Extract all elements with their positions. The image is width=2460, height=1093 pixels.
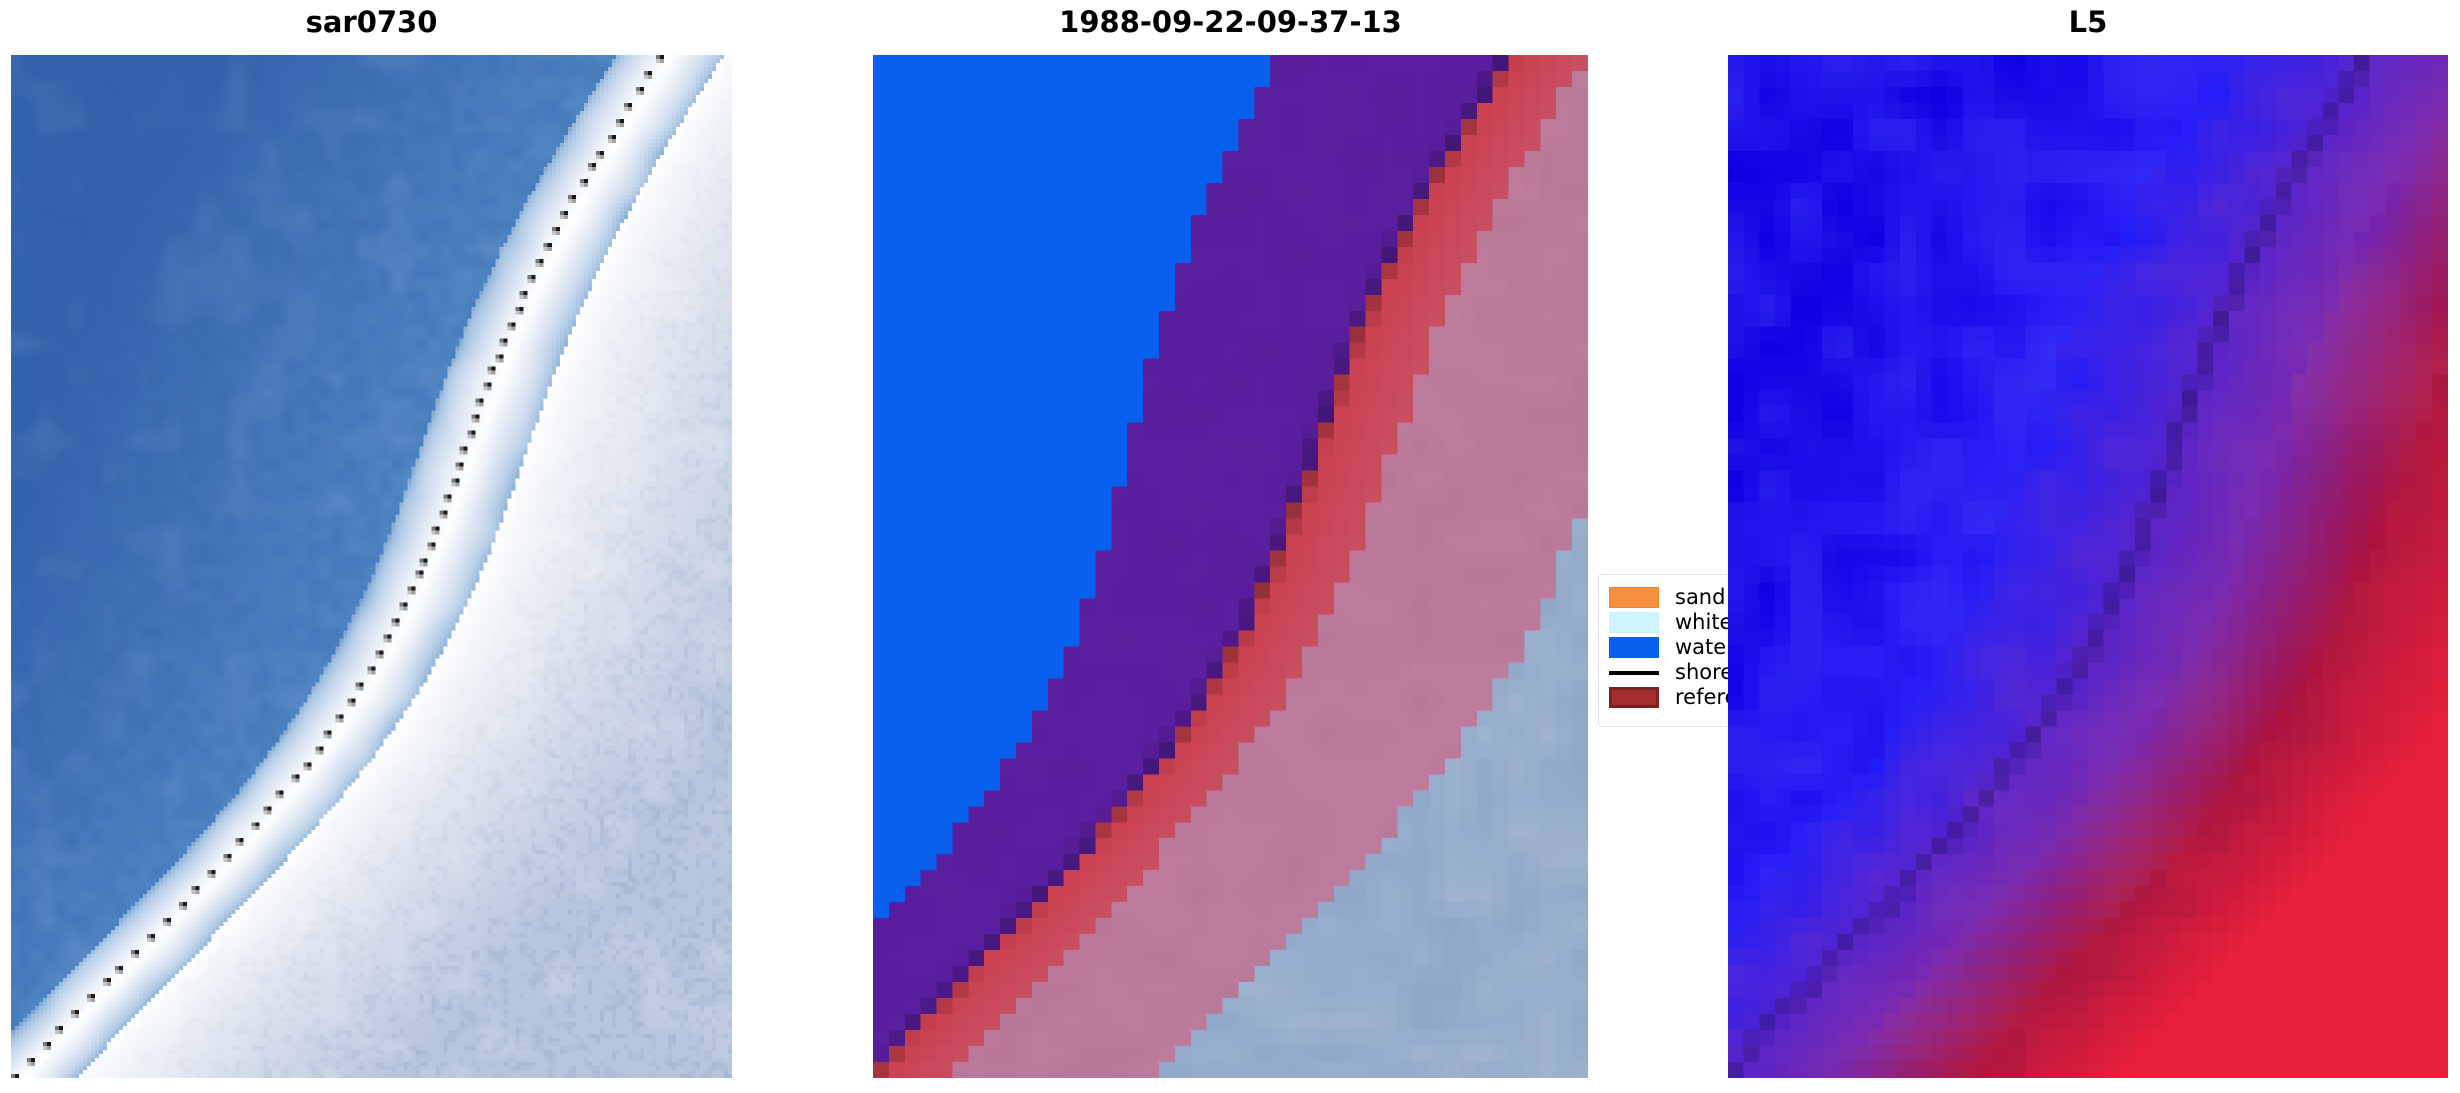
panel-title-sar: sar0730 — [11, 0, 732, 44]
shoreline-swatch — [1609, 671, 1659, 675]
reference-swatch — [1609, 687, 1659, 708]
panel-sar[interactable] — [11, 55, 732, 1078]
legend-label-water: water — [1675, 635, 1735, 660]
sar-image — [11, 55, 732, 1078]
legend-label-sand: sand — [1675, 585, 1725, 610]
classified-image — [873, 55, 1588, 1078]
panel-title-classified: 1988-09-22-09-37-13 — [873, 0, 1588, 44]
panel-l5[interactable] — [1728, 55, 2448, 1078]
figure-root: sar0730 1988-09-22-09-37-13 sand whitewa… — [0, 0, 2460, 1093]
sand-swatch — [1609, 587, 1659, 608]
panel-title-l5: L5 — [1728, 0, 2448, 44]
water-swatch — [1609, 637, 1659, 658]
l5-image — [1728, 55, 2448, 1078]
whitewater-swatch — [1609, 612, 1659, 633]
panel-classified[interactable] — [873, 55, 1588, 1078]
